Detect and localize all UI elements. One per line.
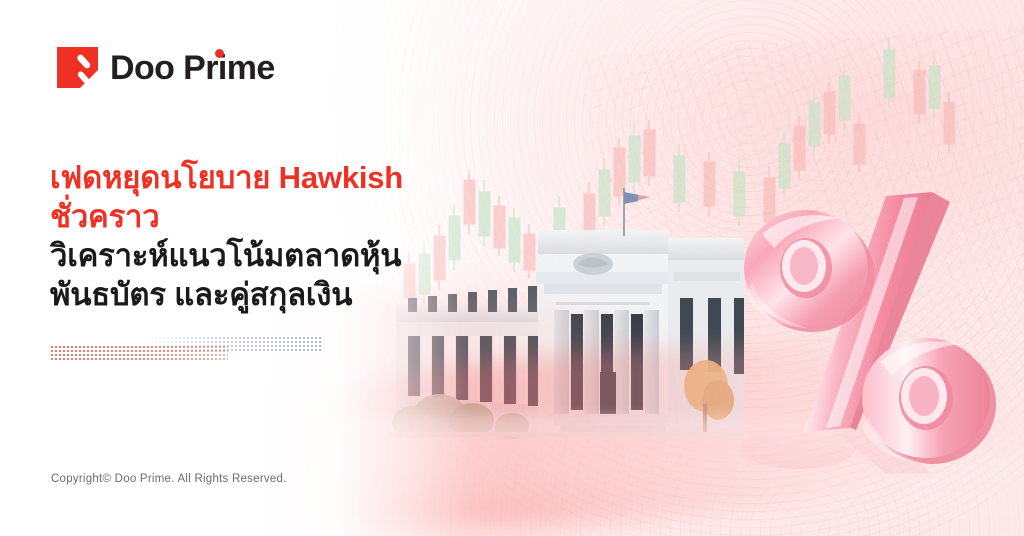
brand-logo[interactable]: Doo Prime bbox=[57, 47, 275, 88]
marketing-banner: Doo Prime เฟดหยุดนโยบาย Hawkish ชั่วคราว… bbox=[0, 0, 1024, 536]
brand-name: Doo Prime bbox=[110, 51, 275, 85]
accent-bar-red bbox=[50, 345, 228, 362]
logo-accent-dot-icon bbox=[215, 49, 224, 58]
headline-line-2: ชั่วคราว bbox=[50, 197, 490, 236]
headline-line-3: วิเคราะห์แนวโน้มตลาดหุ้น bbox=[50, 236, 490, 275]
headline-line-4: พันธบัตร และคู่สกุลเงิน bbox=[50, 275, 490, 314]
headline-line-1: เฟดหยุดนโยบาย Hawkish bbox=[50, 158, 490, 197]
copyright-text: Copyright© Doo Prime. All Rights Reserve… bbox=[51, 473, 287, 485]
accent-dotted-bars bbox=[50, 336, 330, 362]
headline: เฟดหยุดนโยบาย Hawkish ชั่วคราว วิเคราะห์… bbox=[50, 158, 490, 314]
doo-prime-mark-icon bbox=[57, 47, 98, 88]
percent-symbol-3d bbox=[736, 178, 1004, 478]
